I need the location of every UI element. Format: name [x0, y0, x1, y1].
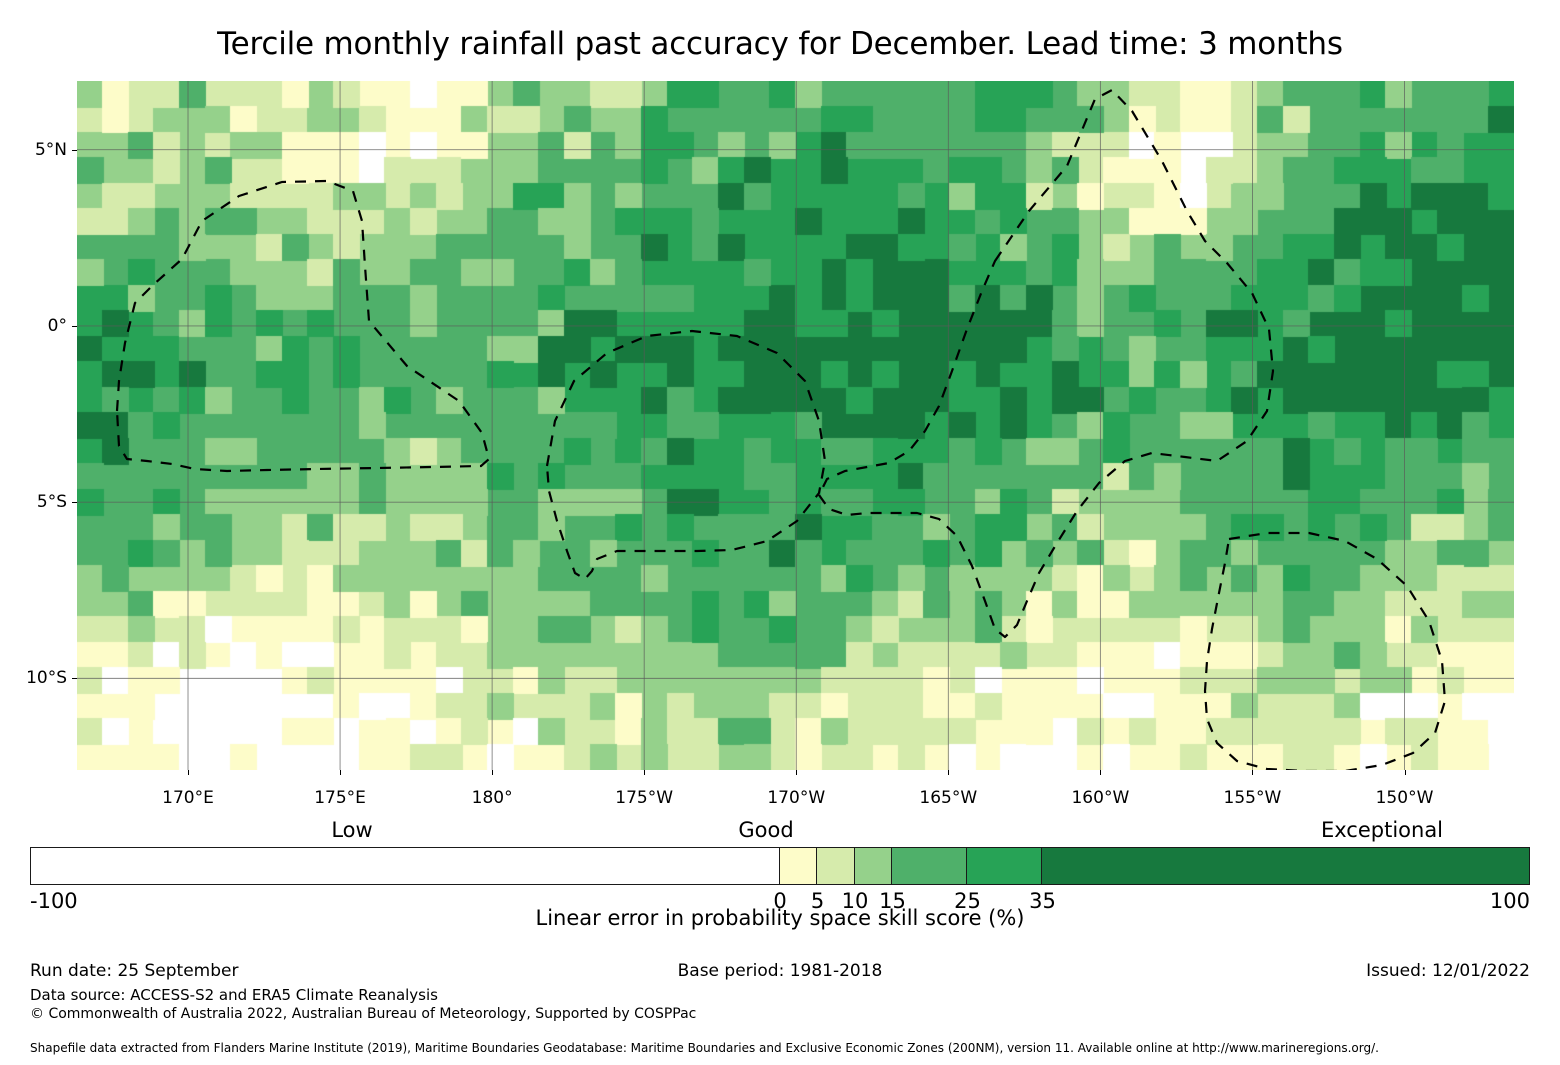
y-tick-mark	[72, 678, 77, 679]
x-tick-mark	[1100, 770, 1101, 775]
footer-base-period: Base period: 1981-2018	[0, 961, 1560, 981]
colorbar-segments[interactable]	[30, 847, 1530, 885]
x-tick-label: 180°	[472, 788, 513, 808]
eez-path-vanuatu-fiji	[547, 331, 825, 579]
page-title: Tercile monthly rainfall past accuracy f…	[0, 26, 1560, 62]
x-tick-label: 170°E	[162, 788, 214, 808]
y-tick-mark	[72, 326, 77, 327]
x-tick-mark	[796, 770, 797, 775]
footer-issued-date: Issued: 12/01/2022	[1366, 961, 1530, 981]
x-tick-label: 175°E	[314, 788, 366, 808]
footer-copyright: © Commonwealth of Australia 2022, Austra…	[30, 1006, 696, 1022]
footer-data-source: Data source: ACCESS-S2 and ERA5 Climate …	[30, 986, 438, 1004]
colorbar-category-low: Low	[331, 818, 372, 842]
colorbar-segment[interactable]	[1042, 848, 1529, 884]
map-plot-area	[77, 81, 1514, 770]
x-tick-label: 165°W	[919, 788, 977, 808]
colorbar-segment[interactable]	[855, 848, 892, 884]
x-tick-label: 150°W	[1376, 788, 1434, 808]
colorbar-segment[interactable]	[780, 848, 817, 884]
x-tick-label: 175°W	[615, 788, 673, 808]
x-tick-mark	[188, 770, 189, 775]
colorbar-segment[interactable]	[817, 848, 854, 884]
colorbar-axis-title: Linear error in probability space skill …	[0, 906, 1560, 930]
colorbar-segment[interactable]	[892, 848, 967, 884]
x-tick-mark	[1405, 770, 1406, 775]
footer-shapefile-attribution: Shapefile data extracted from Flanders M…	[30, 1041, 1379, 1055]
x-tick-mark	[492, 770, 493, 775]
x-tick-label: 155°W	[1224, 788, 1282, 808]
x-tick-mark	[948, 770, 949, 775]
x-tick-mark	[340, 770, 341, 775]
colorbar-category-exceptional: Exceptional	[1321, 818, 1443, 842]
eez-path-kiribati	[819, 90, 1273, 637]
colorbar-category-good: Good	[738, 818, 793, 842]
eez-boundary-lines	[77, 81, 1514, 770]
eez-path-solomon	[117, 181, 489, 471]
x-tick-mark	[644, 770, 645, 775]
eez-path-cook	[1205, 533, 1445, 770]
x-tick-mark	[1252, 770, 1253, 775]
x-tick-label: 170°W	[767, 788, 825, 808]
y-tick-mark	[72, 502, 77, 503]
colorbar-segment[interactable]	[967, 848, 1042, 884]
colorbar-segment[interactable]	[31, 848, 780, 884]
y-tick-mark	[72, 150, 77, 151]
x-tick-label: 160°W	[1071, 788, 1129, 808]
colorbar[interactable]	[30, 847, 1530, 885]
